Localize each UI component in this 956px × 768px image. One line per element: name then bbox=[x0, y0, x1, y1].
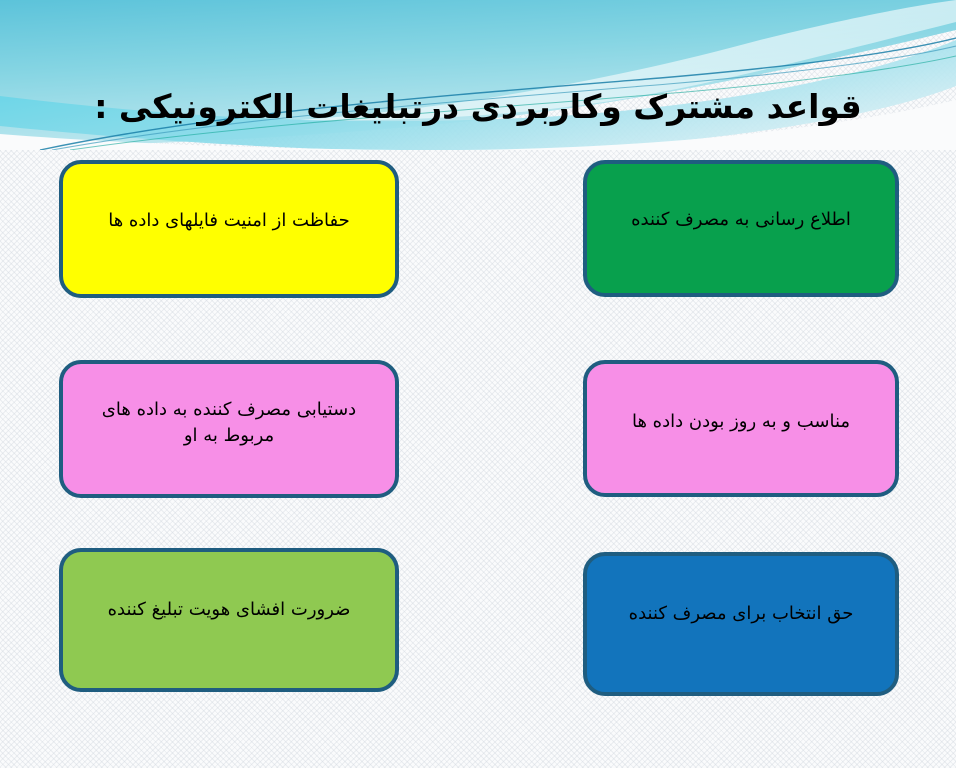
slide-title: قواعد مشترک وکاربردی درتبلیغات الکترونیک… bbox=[0, 88, 956, 126]
rule-box-label: ضرورت افشای هویت تبلیغ کننده bbox=[81, 597, 377, 623]
rule-box-data-file-security[interactable]: حفاظت از امنیت فایلهای داده ها bbox=[59, 160, 399, 298]
rule-box-consumer-choice-right[interactable]: حق انتخاب برای مصرف کننده bbox=[583, 552, 899, 696]
rule-box-data-accuracy-currency[interactable]: مناسب و به روز بودن داده ها bbox=[583, 360, 899, 497]
rule-box-label: مناسب و به روز بودن داده ها bbox=[605, 409, 877, 435]
rule-box-consumer-data-access[interactable]: دستیابی مصرف کننده به داده های مربوط به … bbox=[59, 360, 399, 498]
rule-box-label: حفاظت از امنیت فایلهای داده ها bbox=[81, 208, 377, 234]
presentation-slide: قواعد مشترک وکاربردی درتبلیغات الکترونیک… bbox=[0, 0, 956, 768]
rule-box-label: دستیابی مصرف کننده به داده های مربوط به … bbox=[81, 397, 377, 449]
rule-box-label: حق انتخاب برای مصرف کننده bbox=[605, 601, 877, 627]
rule-box-consumer-information[interactable]: اطلاع رسانی به مصرف کننده bbox=[583, 160, 899, 297]
rule-box-advertiser-identity-disclosure[interactable]: ضرورت افشای هویت تبلیغ کننده bbox=[59, 548, 399, 692]
rule-box-label: اطلاع رسانی به مصرف کننده bbox=[605, 207, 877, 233]
